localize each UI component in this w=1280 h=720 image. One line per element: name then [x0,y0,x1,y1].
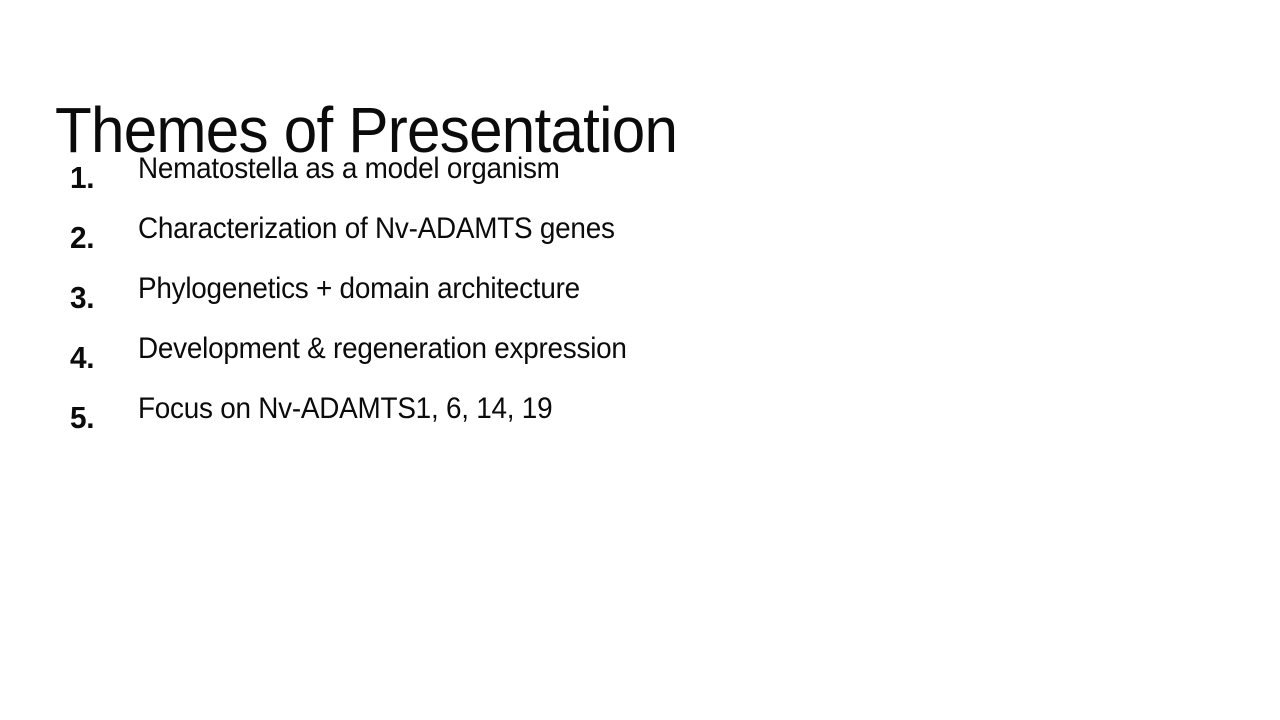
list-item-label: Development & regeneration expression [138,332,627,366]
list-item-marker: 3. [70,282,120,313]
list-item: 1. Nematostella as a model organism [0,140,1280,200]
list-item-label: Characterization of Nv-ADAMTS genes [138,212,615,246]
list-item-label: Nematostella as a model organism [138,152,560,186]
list-item-label: Focus on Nv-ADAMTS1, 6, 14, 19 [138,392,552,426]
presentation-slide: Themes of Presentation 1. Nematostella a… [0,0,1280,720]
list-item-label: Phylogenetics + domain architecture [138,272,580,306]
list-item-marker: 5. [70,402,120,433]
list-item-marker: 1. [70,162,120,193]
list-item-marker: 2. [70,222,120,253]
list-item-marker: 4. [70,342,120,373]
themes-list: 1. Nematostella as a model organism 2. C… [0,140,1280,440]
list-item: 5. Focus on Nv-ADAMTS1, 6, 14, 19 [0,380,1280,440]
list-item: 3. Phylogenetics + domain architecture [0,260,1280,320]
list-item: 2. Characterization of Nv-ADAMTS genes [0,200,1280,260]
list-item: 4. Development & regeneration expression [0,320,1280,380]
